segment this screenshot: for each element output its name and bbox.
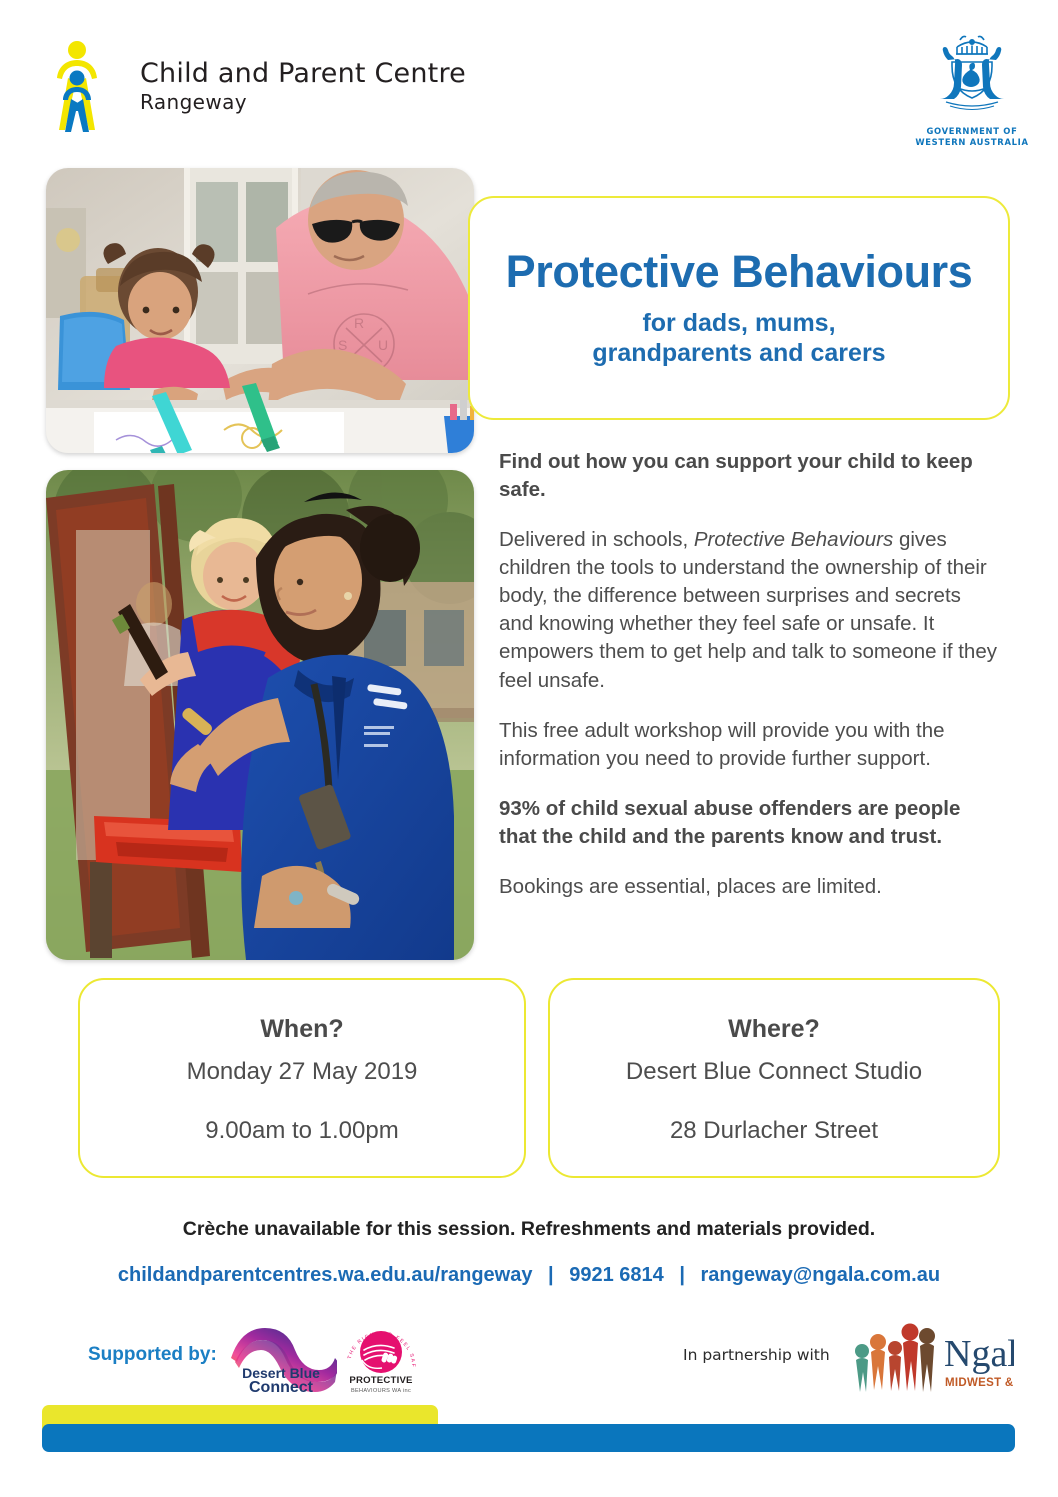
where-box: Where? Desert Blue Connect Studio 28 Dur… [548, 978, 1000, 1178]
when-box: When? Monday 27 May 2019 9.00am to 1.00p… [78, 978, 526, 1178]
ngala-region: MIDWEST & GASCOYNE [945, 1377, 1014, 1389]
when-date: Monday 27 May 2019 [187, 1058, 418, 1087]
svg-text:R: R [354, 315, 364, 331]
pbwa-line1: PROTECTIVE [349, 1375, 413, 1386]
body-copy: Find out how you can support your child … [499, 448, 999, 923]
government-caption-line2: WESTERN AUSTRALIA [912, 137, 1032, 148]
page-subtitle-line2: grandparents and carers [592, 339, 885, 369]
statistic-paragraph: 93% of child sexual abuse offenders are … [499, 795, 999, 851]
in-partnership-with-label: In partnership with [683, 1346, 830, 1364]
dbc-line2: Connect [249, 1379, 314, 1396]
description-part-2: gives children the tools to understand t… [499, 528, 997, 691]
org-name-line1: Child and Parent Centre [140, 60, 466, 88]
contact-line: childandparentcentres.wa.edu.au/rangeway… [0, 1264, 1058, 1287]
supported-by-label: Supported by: [88, 1344, 217, 1366]
phone-number[interactable]: 9921 6814 [569, 1264, 664, 1286]
page-title: Protective Behaviours [506, 248, 973, 295]
where-venue: Desert Blue Connect Studio [626, 1058, 922, 1087]
government-caption: GOVERNMENT OF WESTERN AUSTRALIA [912, 126, 1032, 147]
org-name: Child and Parent Centre Rangeway [140, 60, 466, 114]
title-card: Protective Behaviours for dads, mums, gr… [468, 196, 1010, 420]
photo-educator-and-child-painting [46, 470, 474, 960]
footer-bar-blue [42, 1424, 1015, 1452]
description-paragraph: Delivered in schools, Protective Behavio… [499, 526, 999, 694]
desert-blue-connect-logo: Desert Blue Connect [225, 1318, 337, 1396]
website-link[interactable]: childandparentcentres.wa.edu.au/rangeway [118, 1264, 533, 1286]
child-and-parent-figure-icon [46, 38, 108, 134]
wa-state-crest-icon [912, 32, 1032, 124]
photo-grandparent-and-child-drawing: R S U [46, 168, 474, 453]
pbwa-line2: BEHAVIOURS WA inc [351, 1388, 411, 1394]
email-link[interactable]: rangeway@ngala.com.au [701, 1264, 941, 1286]
lead-paragraph: Find out how you can support your child … [499, 448, 999, 504]
where-address: 28 Durlacher Street [670, 1117, 878, 1146]
ngala-wordmark: Ngala [944, 1333, 1014, 1375]
program-name-italic: Protective Behaviours [694, 528, 893, 551]
when-heading: When? [260, 1015, 343, 1044]
creche-notice: Crèche unavailable for this session. Ref… [0, 1218, 1058, 1241]
page-subtitle: for dads, mums, grandparents and carers [592, 309, 885, 368]
when-time: 9.00am to 1.00pm [205, 1117, 398, 1146]
protective-behaviours-wa-logo: THE RIGHT TO FEEL SAFE PROTECTIVE BEHAVI… [340, 1322, 422, 1396]
where-heading: Where? [728, 1015, 820, 1044]
poster-page: Child and Parent Centre Rangeway [0, 0, 1058, 1497]
org-name-line2: Rangeway [140, 90, 466, 114]
workshop-paragraph: This free adult workshop will provide yo… [499, 717, 999, 773]
description-part-1: Delivered in schools, [499, 528, 694, 551]
child-and-parent-centre-logo: Child and Parent Centre Rangeway [46, 38, 466, 148]
government-of-western-australia-logo: GOVERNMENT OF WESTERN AUSTRALIA [912, 32, 1032, 150]
contact-separator-1: | [538, 1264, 564, 1286]
bookings-paragraph: Bookings are essential, places are limit… [499, 873, 999, 901]
government-caption-line1: GOVERNMENT OF [912, 126, 1032, 137]
svg-text:U: U [378, 337, 388, 353]
contact-separator-2: | [669, 1264, 695, 1286]
ngala-logo: Ngala MIDWEST & GASCOYNE [848, 1318, 1014, 1396]
page-subtitle-line1: for dads, mums, [592, 309, 885, 339]
